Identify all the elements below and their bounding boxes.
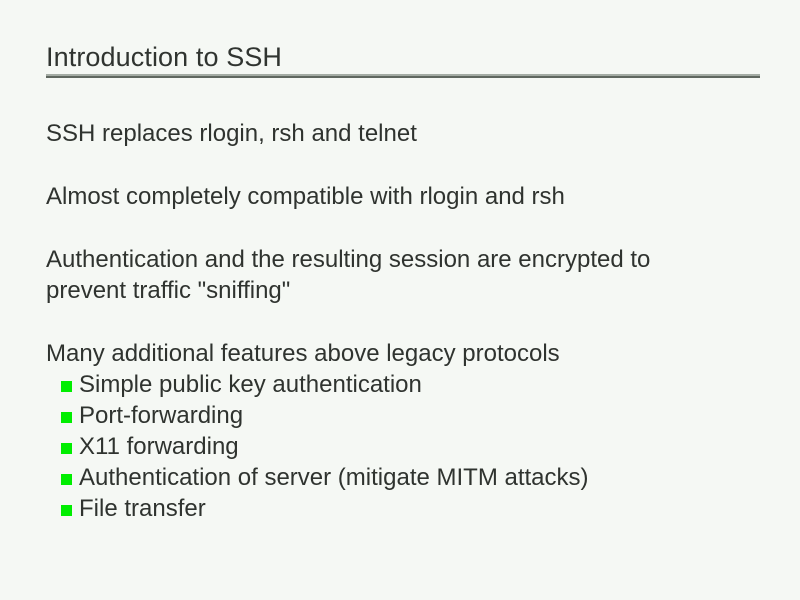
body-paragraph-1: SSH replaces rlogin, rsh and telnet bbox=[46, 118, 736, 149]
body-paragraph-3: Authentication and the resulting session… bbox=[46, 244, 736, 306]
slide-body: SSH replaces rlogin, rsh and telnet Almo… bbox=[46, 118, 760, 524]
square-bullet-icon bbox=[61, 474, 72, 485]
list-item: File transfer bbox=[61, 493, 760, 524]
body-paragraph-4: Many additional features above legacy pr… bbox=[46, 338, 736, 369]
list-item: X11 forwarding bbox=[61, 431, 760, 462]
body-paragraph-2: Almost completely compatible with rlogin… bbox=[46, 181, 736, 212]
list-item-label: File transfer bbox=[79, 495, 206, 522]
list-item-label: Port-forwarding bbox=[79, 402, 243, 429]
list-item-label: Authentication of server (mitigate MITM … bbox=[79, 464, 589, 491]
list-item: Simple public key authentication bbox=[61, 369, 760, 400]
square-bullet-icon bbox=[61, 412, 72, 423]
slide: Introduction to SSH SSH replaces rlogin,… bbox=[0, 0, 800, 600]
list-item: Authentication of server (mitigate MITM … bbox=[61, 462, 760, 493]
square-bullet-icon bbox=[61, 381, 72, 392]
title-divider bbox=[46, 74, 760, 78]
list-item-label: X11 forwarding bbox=[79, 433, 239, 460]
square-bullet-icon bbox=[61, 505, 72, 516]
list-item: Port-forwarding bbox=[61, 400, 760, 431]
list-item-label: Simple public key authentication bbox=[79, 371, 422, 398]
page-title: Introduction to SSH bbox=[46, 41, 282, 73]
square-bullet-icon bbox=[61, 443, 72, 454]
feature-list: Simple public key authentication Port-fo… bbox=[46, 369, 760, 524]
